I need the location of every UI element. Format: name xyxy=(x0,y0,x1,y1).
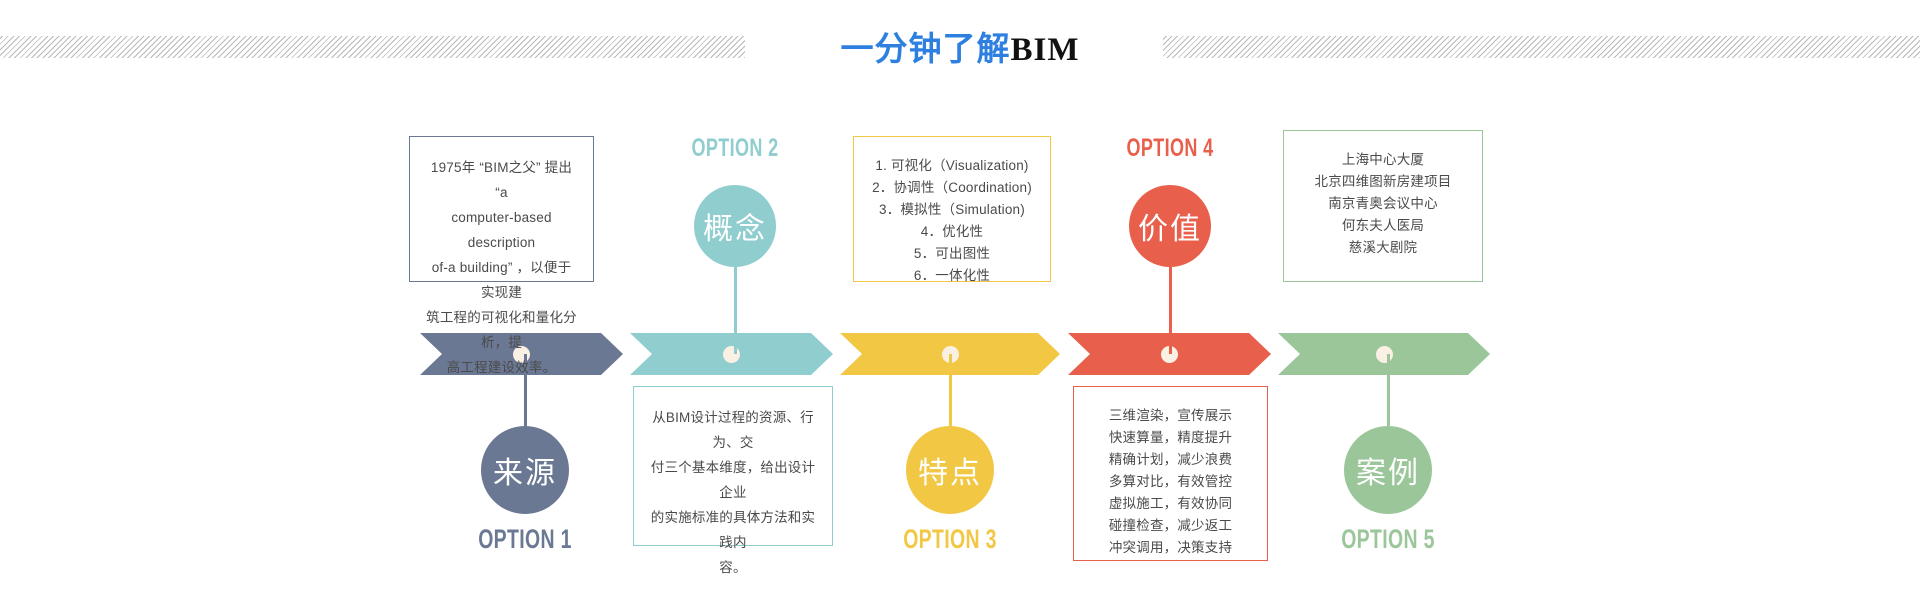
detail-line: 三维渲染，宣传展示 xyxy=(1090,405,1251,427)
page-title-en: BIM xyxy=(1011,32,1080,68)
step-circle-label: 案例 xyxy=(1356,448,1420,492)
detail-line: 碰撞检查，减少返工 xyxy=(1090,515,1251,537)
step-circle-option-2[interactable]: 概念 xyxy=(694,185,776,267)
connector-stem-2 xyxy=(734,267,737,354)
detail-line: of-a building” ，以便于实现建 xyxy=(426,255,577,305)
step-circle-option-3[interactable]: 特点 xyxy=(906,426,994,514)
option-label-2: OPTION 2 xyxy=(641,134,828,163)
detail-line: 上海中心大厦 xyxy=(1300,149,1466,171)
detail-line: 北京四维图新房建项目 xyxy=(1300,171,1466,193)
detail-line: 6．一体化性 xyxy=(870,265,1034,287)
page-title-cn: 一分钟了解 xyxy=(841,32,1011,68)
detail-box-option-5: 上海中心大厦 北京四维图新房建项目 南京青奥会议中心 何东夫人医局 慈溪大剧院 xyxy=(1283,130,1483,282)
step-circle-option-5[interactable]: 案例 xyxy=(1344,426,1432,514)
option-label-1: OPTION 1 xyxy=(431,524,618,555)
step-circle-option-4[interactable]: 价值 xyxy=(1129,185,1211,267)
detail-line: 3．模拟性（Simulation) xyxy=(870,199,1034,221)
detail-line: 付三个基本维度，给出设计企业 xyxy=(650,455,816,505)
step-circle-option-1[interactable]: 来源 xyxy=(481,426,569,514)
detail-line: 虚拟施工，有效协同 xyxy=(1090,493,1251,515)
detail-line: 何东夫人医局 xyxy=(1300,215,1466,237)
detail-line: 2．协调性（Coordination) xyxy=(870,177,1034,199)
detail-box-option-4: 三维渲染，宣传展示 快速算量，精度提升 精确计划，减少浪费 多算对比，有效管控 … xyxy=(1073,386,1268,561)
connector-stem-5 xyxy=(1387,354,1390,426)
detail-box-option-3: 1. 可视化（Visualization) 2．协调性（Coordination… xyxy=(853,136,1051,282)
detail-line: 慈溪大剧院 xyxy=(1300,237,1466,259)
detail-line: 冲突调用，决策支持 xyxy=(1090,537,1251,559)
detail-line: 1. 可视化（Visualization) xyxy=(870,155,1034,177)
connector-stem-3 xyxy=(949,354,952,426)
detail-line: 筑工程的可视化和量化分析，提 xyxy=(426,305,577,355)
timeline-node-dot-2 xyxy=(723,346,740,363)
connector-stem-4 xyxy=(1169,267,1172,354)
page-title: 一分钟了解BIM xyxy=(0,22,1920,70)
step-circle-label: 价值 xyxy=(1138,204,1202,248)
detail-line: computer-based description xyxy=(426,205,577,255)
detail-line: 精确计划，减少浪费 xyxy=(1090,449,1251,471)
detail-line: 1975年 “BIM之父” 提出 “a xyxy=(426,155,577,205)
timeline-band xyxy=(0,333,1920,375)
detail-line: 4．优化性 xyxy=(870,221,1034,243)
detail-line: 南京青奥会议中心 xyxy=(1300,193,1466,215)
detail-line: 5．可出图性 xyxy=(870,243,1034,265)
step-circle-label: 概念 xyxy=(703,204,767,248)
timeline-segment-2[interactable] xyxy=(630,333,833,375)
timeline-node-dot-5 xyxy=(1376,346,1393,363)
page-header: 一分钟了解BIM xyxy=(0,0,1920,90)
detail-line: 的实施标准的具体方法和实践内 xyxy=(650,505,816,555)
option-label-5: OPTION 5 xyxy=(1294,524,1481,555)
option-label-3: OPTION 3 xyxy=(856,524,1043,555)
detail-line: 快速算量，精度提升 xyxy=(1090,427,1251,449)
option-label-4: OPTION 4 xyxy=(1076,134,1263,163)
detail-line: 多算对比，有效管控 xyxy=(1090,471,1251,493)
detail-box-option-2: 从BIM设计过程的资源、行为、交 付三个基本维度，给出设计企业 的实施标准的具体… xyxy=(633,386,833,546)
step-circle-label: 特点 xyxy=(918,448,982,492)
detail-box-option-1: 1975年 “BIM之父” 提出 “a computer-based descr… xyxy=(409,136,594,282)
detail-line: 高工程建设效率。 xyxy=(426,355,577,380)
detail-line: 从BIM设计过程的资源、行为、交 xyxy=(650,405,816,455)
detail-line: 容。 xyxy=(650,555,816,580)
step-circle-label: 来源 xyxy=(493,448,557,492)
timeline-segment-5[interactable] xyxy=(1278,333,1490,375)
